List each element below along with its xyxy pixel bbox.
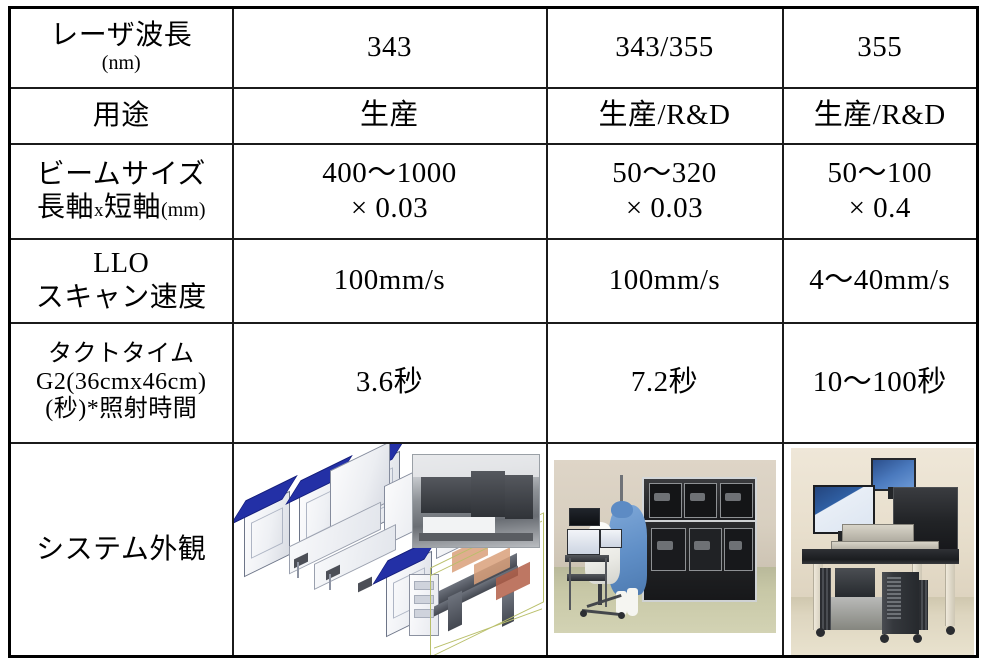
row-label-system-appearance: システム外観 xyxy=(10,443,233,657)
cell-wavelength-col2: 343/355 xyxy=(547,8,783,88)
row-label-beam-size: ビームサイズ 長軸x短軸(mm) xyxy=(10,144,233,239)
row-label-line: 長軸x短軸(mm) xyxy=(11,191,232,224)
cell-takt-col3: 10〜100秒 xyxy=(783,323,978,443)
row-label-line: 用途 xyxy=(11,99,232,132)
cell-value-line: 400〜1000 xyxy=(234,156,546,191)
operator-boot xyxy=(627,588,638,616)
table-row-wavelength: レーザ波長 (nm) 343 343/355 355 xyxy=(10,8,978,88)
cell-beam-size-col2: 50〜320 × 0.03 xyxy=(547,144,783,239)
chair-castor xyxy=(618,612,625,619)
cell-value: 生産/R&D xyxy=(784,98,977,133)
laptop-screen-secondary xyxy=(600,529,622,548)
row-label-line: G2(36cmx46cm) xyxy=(11,369,232,396)
cell-value-line: × 0.4 xyxy=(784,191,977,226)
row-label-line: (秒)*照射時間 xyxy=(11,396,232,423)
cell-wavelength-col3: 355 xyxy=(783,8,978,88)
row-label-llo-scan-speed: LLO スキャン速度 xyxy=(10,239,233,323)
laptop-screen xyxy=(569,508,600,526)
cell-value: 100mm/s xyxy=(234,263,546,298)
equipment-rack-lower xyxy=(642,520,757,602)
under-table-chassis xyxy=(824,597,883,630)
row-label-line: レーザ波長 xyxy=(11,19,232,52)
table-row-system-appearance: システム外観 xyxy=(10,443,978,657)
cell-value: 343 xyxy=(234,30,546,65)
cell-application-col2: 生産/R&D xyxy=(547,88,783,144)
cell-takt-col2: 7.2秒 xyxy=(547,323,783,443)
cell-value: 7.2秒 xyxy=(548,365,782,400)
cable-bundle xyxy=(820,568,831,630)
cad-leg xyxy=(329,574,331,590)
cell-value: 生産 xyxy=(234,98,546,133)
equipment-cart xyxy=(565,555,609,562)
cell-value: 10〜100秒 xyxy=(784,365,977,400)
cad-leg xyxy=(297,562,299,578)
row-label-unit: (nm) xyxy=(11,52,232,76)
cad-production-line-illustration xyxy=(233,443,547,657)
cell-application-col3: 生産/R&D xyxy=(783,88,978,144)
cell-value: 4〜40mm/s xyxy=(784,263,977,298)
cell-llo-speed-col1: 100mm/s xyxy=(233,239,547,323)
under-table-equipment xyxy=(835,568,875,597)
operator-blue-hood xyxy=(611,501,633,518)
cable-bundle xyxy=(919,580,928,630)
row-label-line: タクトタイム xyxy=(11,341,232,368)
row-label-wavelength: レーザ波長 (nm) xyxy=(10,8,233,88)
cell-value-line: 50〜320 xyxy=(548,156,782,191)
equipment-rack-upper xyxy=(642,477,757,523)
computer-tower xyxy=(882,572,919,634)
cell-value: 355 xyxy=(784,30,977,65)
row-label-line: LLO xyxy=(11,247,232,280)
cell-value: 生産/R&D xyxy=(548,98,782,133)
cell-wavelength-col1: 343 xyxy=(233,8,547,88)
table-row-takt-time: タクトタイム G2(36cmx46cm) (秒)*照射時間 3.6秒 7.2秒 … xyxy=(10,323,978,443)
table-row-beam-size: ビームサイズ 長軸x短軸(mm) 400〜1000 × 0.03 50〜320 … xyxy=(10,144,978,239)
row-label-application: 用途 xyxy=(10,88,233,144)
table-leg xyxy=(945,564,955,626)
photo-cleanroom-operators-equipment-rack xyxy=(547,443,783,657)
cell-llo-speed-col3: 4〜40mm/s xyxy=(783,239,978,323)
photo-canvas xyxy=(791,448,975,656)
row-label-takt-time: タクトタイム G2(36cmx46cm) (秒)*照射時間 xyxy=(10,323,233,443)
laser-specification-table: レーザ波長 (nm) 343 343/355 355 用途 生産 xyxy=(8,6,979,658)
cad-canvas xyxy=(234,444,546,656)
cell-value-line: × 0.03 xyxy=(548,191,782,226)
cell-value: 343/355 xyxy=(548,30,782,65)
row-label-line: スキャン速度 xyxy=(11,281,232,314)
cell-value-line: 50〜100 xyxy=(784,156,977,191)
cell-value: 100mm/s xyxy=(548,263,782,298)
table-row-llo-scan-speed: LLO スキャン速度 100mm/s 100mm/s 4〜40mm/s xyxy=(10,239,978,323)
cad-photo-inset xyxy=(412,454,540,548)
row-label-line: システム外観 xyxy=(11,533,232,566)
photo-canvas xyxy=(554,460,776,634)
cell-application-col1: 生産 xyxy=(233,88,547,144)
monitor-screen xyxy=(567,529,600,555)
row-label-line: ビームサイズ xyxy=(11,158,232,191)
cad-foot xyxy=(358,576,372,592)
cell-value: 3.6秒 xyxy=(234,365,546,400)
cell-takt-col1: 3.6秒 xyxy=(233,323,547,443)
cell-beam-size-col3: 50〜100 × 0.4 xyxy=(783,144,978,239)
cell-beam-size-col1: 400〜1000 × 0.03 xyxy=(233,144,547,239)
cad-cabinet xyxy=(244,490,290,576)
cart-leg xyxy=(569,558,571,610)
optical-table-top xyxy=(802,549,960,564)
photo-optical-table-laser-system xyxy=(783,443,978,657)
table-row-application: 用途 生産 生産/R&D 生産/R&D xyxy=(10,88,978,144)
cell-llo-speed-col2: 100mm/s xyxy=(547,239,783,323)
cell-value-line: × 0.03 xyxy=(234,191,546,226)
equipment-cart-shelf xyxy=(567,574,607,581)
